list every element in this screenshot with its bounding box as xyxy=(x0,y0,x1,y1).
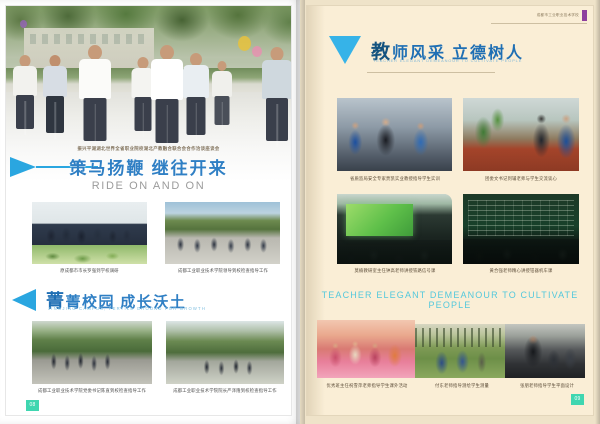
photo-leaders-walk[interactable] xyxy=(165,202,280,264)
hero-person xyxy=(150,45,184,143)
page-edge-shadow xyxy=(595,0,600,424)
left-page[interactable]: 振兴平湖湖北世界全省职业院校湖北产教融合联合会合作洽谈座谈会 策马扬鞭 继往开来… xyxy=(0,0,300,424)
magazine-spread-viewer[interactable]: 振兴平湖湖北世界全省职业院校湖北产教融合联合会合作洽谈座谈会 策马扬鞭 继往开来… xyxy=(0,0,600,424)
left-page-content: 振兴平湖湖北世界全省职业院校湖北产教融合联合会合作洽谈座谈会 策马扬鞭 继往开来… xyxy=(5,5,292,416)
section-rule xyxy=(367,72,495,73)
header-rule xyxy=(491,23,587,24)
photo-caption: 黄合强老师精心讲授钳器机车课 xyxy=(459,268,583,274)
photo-image xyxy=(32,202,147,264)
photo-caption: 优秀班主任祝雪萍老师指导学生课外活动 xyxy=(311,383,423,389)
photo-image xyxy=(166,321,284,384)
photo-image xyxy=(32,321,152,384)
section-banner-en: TEACHER ELEGANT DEMEANOUR TO CULTIVATE P… xyxy=(307,290,593,310)
page-number-badge: 09 xyxy=(571,394,584,405)
photo-classroom-projector[interactable] xyxy=(337,194,452,264)
hero-person xyxy=(12,55,38,129)
photo-expo-visit[interactable] xyxy=(32,202,147,264)
photo-image xyxy=(415,324,507,378)
section-subtitle-en: JINGJING CAMPUS, FERTILE GROUND FOR GROW… xyxy=(48,306,206,311)
balloon-decor xyxy=(238,36,251,51)
hero-title-cn: 策马扬鞭 继往开来 xyxy=(6,154,291,179)
photo-caption: 付东老师指导测绘学生测量 xyxy=(411,383,513,389)
photo-image xyxy=(463,98,579,171)
photo-caption: 成都工业职业技术学院党委书记陈直到校检查指导工作 xyxy=(28,388,156,394)
photo-safety-training[interactable] xyxy=(337,98,452,171)
photo-caption: 原成都市市长罗强到学校调研 xyxy=(32,268,147,274)
photo-caption: 省质监局安全专家贾凯实业教授指导学生实训 xyxy=(333,176,457,182)
photo-image xyxy=(317,320,415,378)
right-page-content: 成都市工业职业技术学校 教师风采 立德树人 TEACHER ELEGANT DE… xyxy=(306,5,594,416)
photo-campus-inspection-2[interactable] xyxy=(166,321,284,384)
balloon-decor xyxy=(20,20,27,28)
section-heading-campus: 菁菁校园 成长沃土 JINGJING CAMPUS, FERTILE GROUN… xyxy=(6,287,291,317)
hero-person xyxy=(261,47,291,141)
photo-outdoor-activity[interactable] xyxy=(317,320,415,378)
header-text: 成都市工业职业技术学校 xyxy=(537,13,579,18)
photo-caption: 团委文书记到辅老师与学生交流谈心 xyxy=(459,176,583,182)
header-accent-bar xyxy=(582,10,587,21)
photo-blackboard-class[interactable] xyxy=(463,194,579,264)
photo-image xyxy=(337,194,452,264)
left-triangle-icon xyxy=(12,289,36,311)
hero-person xyxy=(182,53,210,135)
photo-campus-inspection-1[interactable] xyxy=(32,321,152,384)
right-page[interactable]: 成都市工业职业技术学校 教师风采 立德树人 TEACHER ELEGANT DE… xyxy=(300,0,600,424)
hero-title-en: RIDE ON AND ON xyxy=(6,180,291,192)
photo-caption: 成都工业职业技术学院领导到校检查指导工作 xyxy=(161,268,285,274)
photo-survey-training[interactable] xyxy=(415,324,507,378)
photo-image xyxy=(505,324,585,378)
page-number-badge: 08 xyxy=(26,400,39,411)
hero-title-block: 策马扬鞭 继往开来 RIDE ON AND ON xyxy=(6,154,291,192)
photo-caption: 张朋老师指导学生平面设计 xyxy=(499,383,594,389)
photo-image xyxy=(165,202,280,264)
down-triangle-icon xyxy=(329,36,361,64)
right-page-header: 成都市工业职业技术学校 xyxy=(537,10,587,21)
section-heading-teachers: 教师风采 立德树人 TEACHER ELEGANT DEMEANOUR TO C… xyxy=(329,36,569,70)
hero-person xyxy=(78,45,112,141)
photo-caption: 莫楠教研室主任钟高老师讲授铁路信号课 xyxy=(333,268,457,274)
photo-image xyxy=(337,98,452,171)
section-subtitle-en: TEACHER ELEGANT DEMEANOUR TO CULTIVATE P… xyxy=(373,58,522,63)
photo-image xyxy=(463,194,579,264)
hero-small-caption: 振兴平湖湖北世界全省职业院校湖北产教融合联合会合作洽谈座谈会 xyxy=(6,146,291,152)
hero-person xyxy=(211,61,233,125)
hero-person xyxy=(42,55,68,133)
photo-caption: 成都工业职业技术学院院长严泽隆到校检查指导工作 xyxy=(162,388,288,394)
photo-design-class[interactable] xyxy=(505,324,585,378)
photo-counseling[interactable] xyxy=(463,98,579,171)
